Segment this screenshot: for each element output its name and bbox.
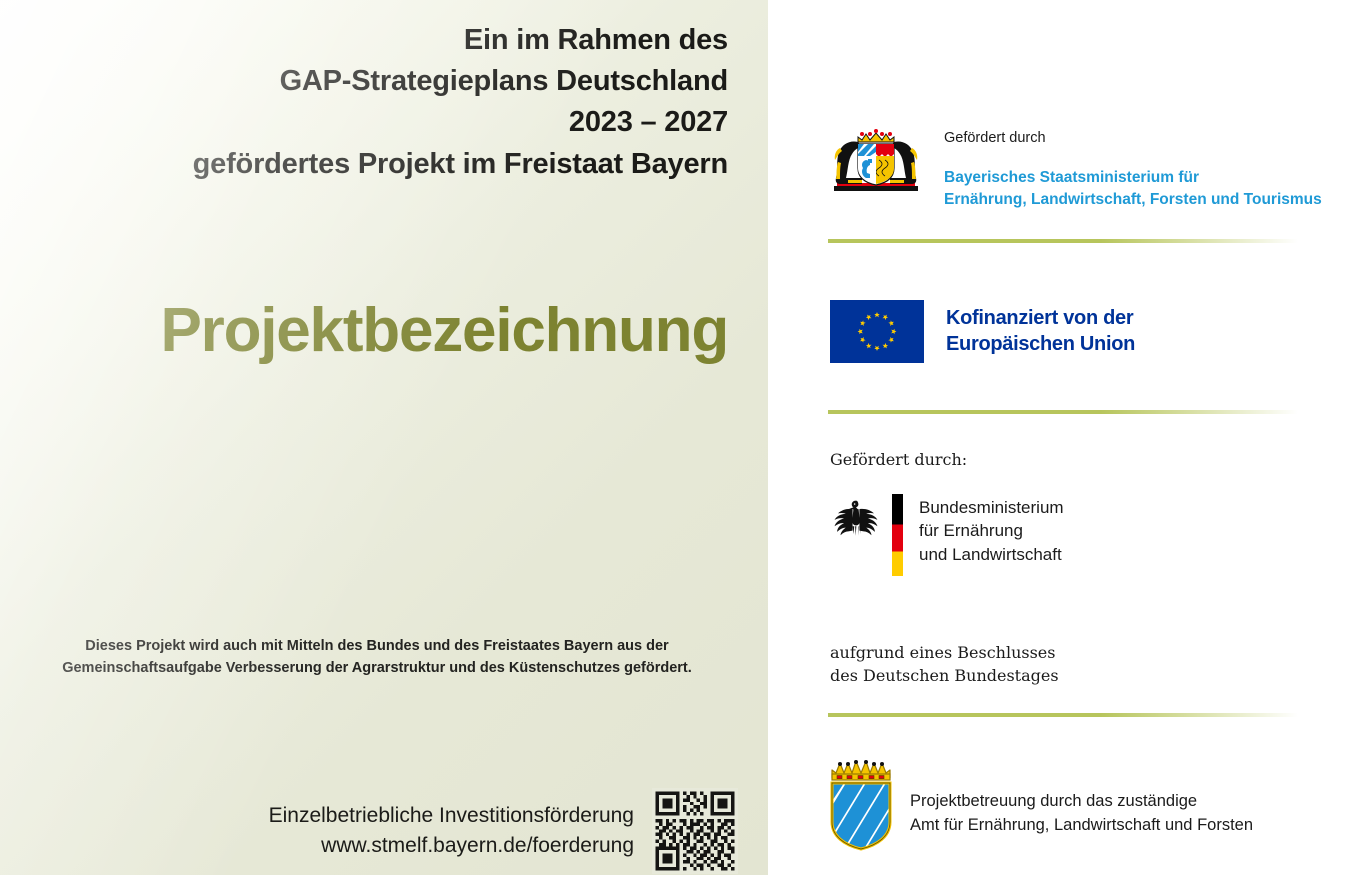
eu-logo-block: Kofinanziert von der Europäischen Union bbox=[830, 300, 1135, 363]
bmel-name: Bundesministerium für Ernährung und Land… bbox=[919, 494, 1064, 566]
european-union-flag-icon bbox=[830, 300, 924, 363]
header-line-2: GAP-Strategieplans Deutschland bbox=[28, 61, 728, 102]
bmel-name-line-2: für Ernährung bbox=[919, 519, 1064, 542]
header-block: Ein im Rahmen des GAP-Strategieplans Deu… bbox=[28, 20, 728, 185]
left-info-panel: Ein im Rahmen des GAP-Strategieplans Deu… bbox=[0, 0, 768, 875]
stmelf-name-line-1: Bayerisches Staatsministerium für bbox=[944, 167, 1322, 189]
funding-note-line-1: Dieses Projekt wird auch mit Mitteln des… bbox=[24, 636, 730, 658]
funding-note: Dieses Projekt wird auch mit Mitteln des… bbox=[24, 636, 730, 680]
project-title: Projektbezeichnung bbox=[0, 300, 728, 362]
aelf-text-line-2: Amt für Ernährung, Landwirtschaft und Fo… bbox=[910, 814, 1253, 838]
qr-code-icon[interactable] bbox=[652, 788, 738, 874]
stmelf-name: Bayerisches Staatsministerium für Ernähr… bbox=[944, 167, 1322, 211]
aelf-logo-block: Projektbetreuung durch das zuständige Am… bbox=[826, 752, 1253, 852]
stmelf-logo-block: Gefördert durch Bayerisches Staatsminist… bbox=[828, 128, 1322, 211]
bmel-name-line-1: Bundesministerium bbox=[919, 496, 1064, 519]
program-url[interactable]: www.stmelf.bayern.de/foerderung bbox=[269, 831, 634, 861]
program-link-block: Einzelbetriebliche Investitionsförderung… bbox=[0, 788, 738, 874]
header-line-1: Ein im Rahmen des bbox=[28, 20, 728, 61]
stmelf-name-line-2: Ernährung, Landwirtschaft, Forsten und T… bbox=[944, 189, 1322, 211]
german-flag-bar-icon bbox=[892, 494, 903, 576]
eu-text-line-1: Kofinanziert von der bbox=[946, 306, 1135, 332]
aelf-text-line-1: Projektbetreuung durch das zuständige bbox=[910, 790, 1253, 814]
bmel-footnote-line-2: des Deutschen Bundestages bbox=[830, 664, 1059, 687]
federal-eagle-icon bbox=[830, 498, 882, 546]
bmel-footnote-line-1: aufgrund eines Beschlusses bbox=[830, 641, 1059, 664]
bavarian-state-coat-of-arms-icon bbox=[828, 128, 924, 194]
bmel-logo-block: Bundesministerium für Ernährung und Land… bbox=[830, 494, 1064, 576]
bavaria-crowned-shield-icon bbox=[826, 752, 896, 852]
header-line-3: 2023 – 2027 bbox=[28, 102, 728, 143]
divider-2 bbox=[828, 410, 1298, 414]
funding-note-line-2: Gemeinschaftsaufgabe Verbesserung der Ag… bbox=[24, 658, 730, 680]
bmel-eyebrow: Gefördert durch: bbox=[830, 450, 967, 469]
divider-1 bbox=[828, 239, 1298, 243]
header-line-4: gefördertes Projekt im Freistaat Bayern bbox=[28, 144, 728, 185]
eu-text: Kofinanziert von der Europäischen Union bbox=[946, 306, 1135, 357]
stmelf-eyebrow: Gefördert durch bbox=[944, 130, 1322, 146]
program-link-text: Einzelbetriebliche Investitionsförderung… bbox=[269, 801, 634, 861]
program-name: Einzelbetriebliche Investitionsförderung bbox=[269, 801, 634, 831]
right-logo-panel: Gefördert durch Bayerisches Staatsminist… bbox=[768, 0, 1352, 875]
divider-3 bbox=[828, 713, 1298, 717]
eu-text-line-2: Europäischen Union bbox=[946, 332, 1135, 358]
bmel-name-line-3: und Landwirtschaft bbox=[919, 543, 1064, 566]
aelf-text: Projektbetreuung durch das zuständige Am… bbox=[910, 790, 1253, 852]
bmel-footnote: aufgrund eines Beschlusses des Deutschen… bbox=[830, 641, 1059, 687]
